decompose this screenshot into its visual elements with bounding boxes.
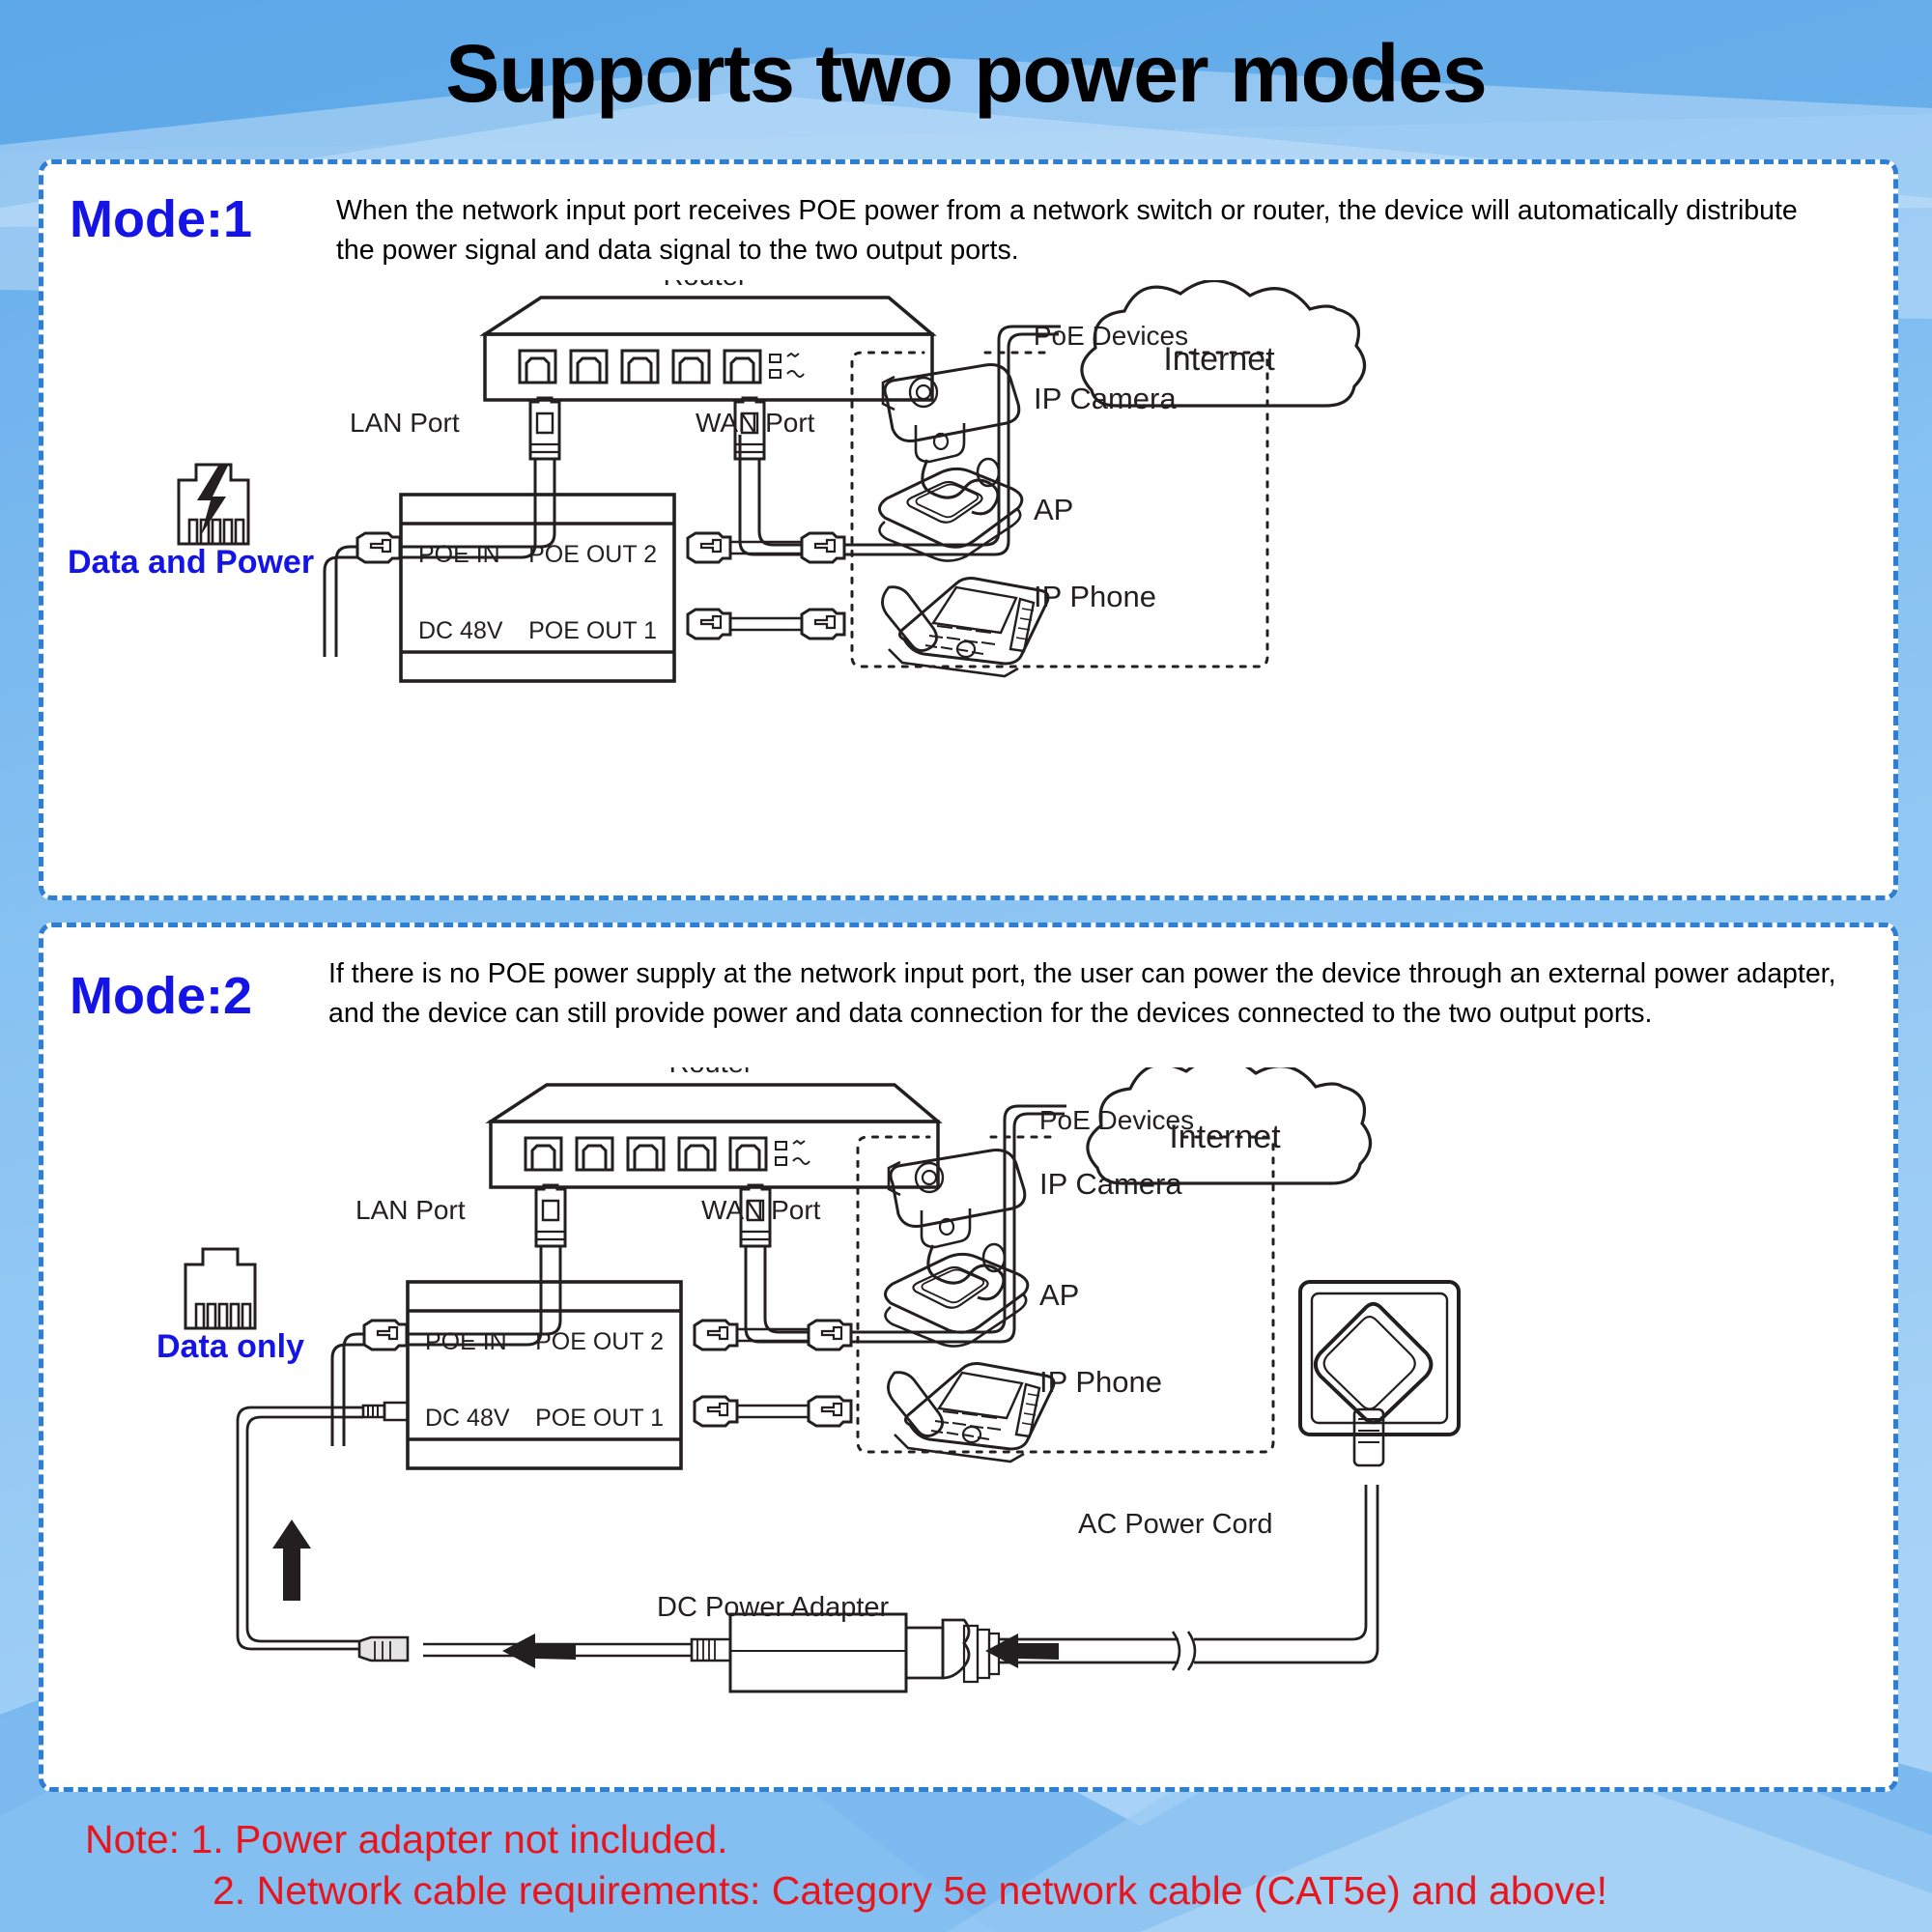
dc-barrel-plug-2 — [363, 1403, 408, 1420]
wan-port-label-2: WAN Port — [701, 1195, 821, 1225]
arrow-left-icon-1 — [502, 1634, 576, 1668]
poe-splitter-1 — [401, 495, 674, 681]
poe-splitter-2 — [408, 1282, 681, 1468]
rj45-plug-out1-a-2 — [695, 1397, 737, 1426]
wan-port-label-1: WAN Port — [696, 408, 815, 438]
wall-socket-icon — [1300, 1282, 1459, 1465]
poe-out-2-label-1: POE OUT 2 — [528, 541, 657, 568]
rj45-plug-poein-1 — [357, 533, 400, 562]
ip-phone-icon-2 — [888, 1364, 1054, 1462]
dc-small-plug — [359, 1637, 408, 1661]
note-line-2: 2. Network cable requirements: Category … — [85, 1865, 1920, 1917]
ac-cable-right — [1194, 1485, 1366, 1639]
ap-icon-1 — [879, 469, 1021, 560]
mode-2-label: Mode:2 — [70, 966, 252, 1026]
rj45-icon-2 — [185, 1249, 255, 1328]
rj45-plug-out1-b-2 — [809, 1397, 851, 1426]
ip-phone-icon-1 — [882, 579, 1048, 676]
dc-48v-label-2: DC 48V — [425, 1405, 510, 1432]
data-and-power-label: Data and Power — [68, 544, 314, 581]
ap-label-1: AP — [1034, 493, 1073, 526]
poe-out-2-label-2: POE OUT 2 — [535, 1328, 664, 1355]
page-title: Supports two power modes — [0, 27, 1932, 121]
rj45-plug-out2-b-1 — [802, 533, 844, 562]
dc-adapter-label: DC Power Adapter — [657, 1592, 890, 1623]
dc-48v-label-1: DC 48V — [418, 617, 503, 644]
router-label-1: Router — [663, 280, 747, 292]
router-label-2: Router — [668, 1067, 753, 1079]
mode-1-diagram: Internet Router LAN Port — [39, 280, 1889, 898]
poe-devices-label-1: PoE Devices — [1034, 321, 1188, 351]
rj45-plug-out1-b-1 — [802, 610, 844, 639]
poe-out-1-label-1: POE OUT 1 — [528, 617, 657, 644]
ac-cord-label: AC Power Cord — [1078, 1509, 1272, 1540]
router-icon-2 — [491, 1085, 938, 1187]
ip-phone-label-2: IP Phone — [1039, 1365, 1162, 1399]
lan-port-label-2: LAN Port — [355, 1195, 466, 1225]
mode-1-description: When the network input port receives POE… — [336, 191, 1843, 271]
ap-label-2: AP — [1039, 1278, 1079, 1312]
ip-camera-label-2: IP Camera — [1039, 1167, 1182, 1201]
ip-phone-label-1: IP Phone — [1034, 580, 1156, 613]
data-only-label: Data only — [156, 1328, 304, 1365]
wan-cable-2 — [746, 1114, 1065, 1342]
router-icon-1 — [485, 298, 932, 400]
lan-port-label-1: LAN Port — [350, 408, 460, 438]
mode-2-diagram: Internet Router LAN Port WAN Port — [39, 1067, 1889, 1782]
rj45-power-icon-1 — [179, 465, 248, 544]
poe-out-1-label-2: POE OUT 1 — [535, 1405, 664, 1432]
ip-camera-label-1: IP Camera — [1034, 382, 1177, 415]
poe-in-label-2: POE IN — [425, 1328, 507, 1355]
rj45-plug-lan-2 — [536, 1185, 565, 1246]
poe-in-label-1: POE IN — [418, 541, 500, 568]
rj45-plug-out1-a-1 — [688, 610, 730, 639]
rj45-plug-out2-a-1 — [688, 533, 730, 562]
rj45-plug-poein-2 — [364, 1321, 407, 1350]
dc-power-adapter-icon — [359, 1614, 999, 1691]
note-line-1: Note: 1. Power adapter not included. — [85, 1817, 728, 1861]
mode-2-description: If there is no POE power supply at the n… — [328, 954, 1874, 1035]
arrow-up-icon — [272, 1520, 311, 1601]
rj45-plug-out2-b-2 — [809, 1321, 851, 1350]
notes-block: Note: 1. Power adapter not included. 2. … — [85, 1814, 1920, 1918]
mode-1-label: Mode:1 — [70, 189, 252, 249]
wan-cable-1 — [740, 334, 1059, 554]
poe-devices-label-2: PoE Devices — [1039, 1105, 1194, 1135]
rj45-plug-lan-1 — [530, 398, 559, 459]
rj45-plug-out2-a-2 — [695, 1321, 737, 1350]
